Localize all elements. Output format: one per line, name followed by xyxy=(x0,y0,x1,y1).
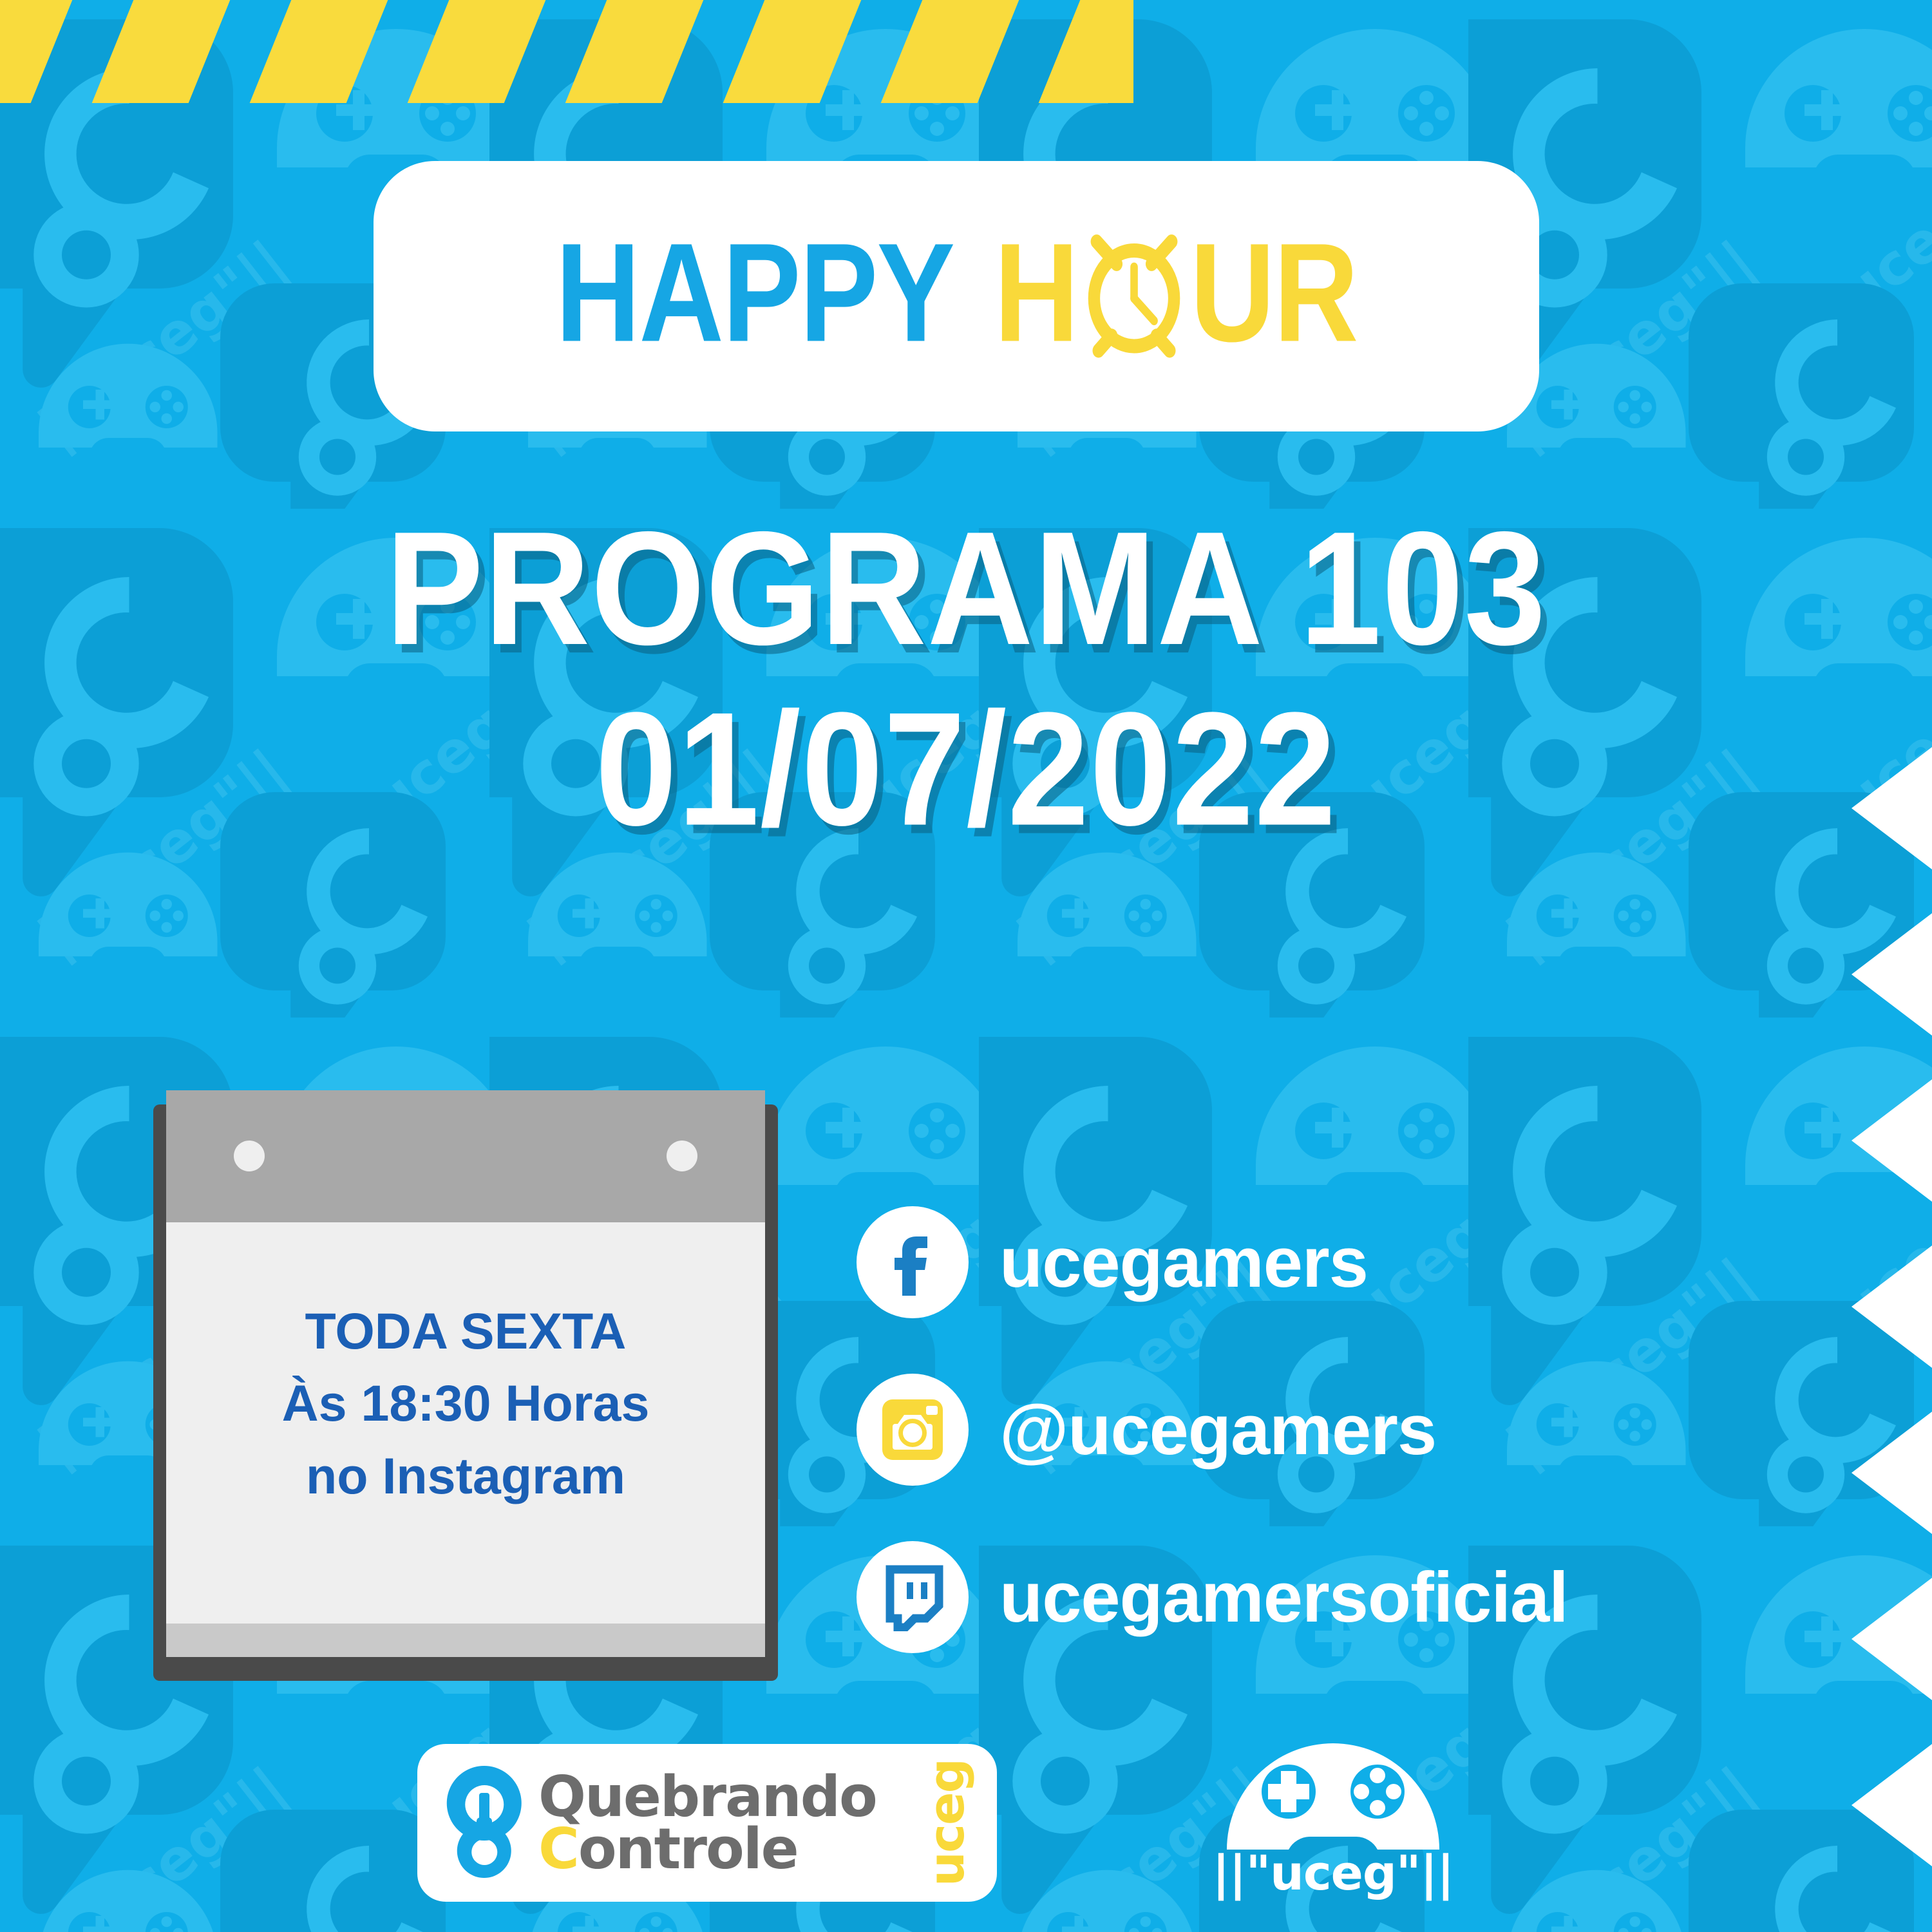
hazard-stripes-decoration xyxy=(0,0,1133,103)
page-title: PROGRAMA 103 01/07/2022 xyxy=(0,498,1932,860)
calendar-footer-bar xyxy=(166,1624,765,1657)
alarm-clock-icon xyxy=(1078,218,1191,367)
calendar-hole-left-icon xyxy=(234,1141,265,1171)
logo-controle-rest: ontrole xyxy=(578,1816,798,1882)
quebrando-controle-wordmark: Quebrando Controle xyxy=(538,1771,909,1874)
schedule-calendar-card: TODA SEXTA Às 18:30 Horas no Instagram xyxy=(153,1104,778,1681)
calendar-header-bar xyxy=(166,1090,765,1222)
title-line-date: 01/07/2022 xyxy=(0,679,1932,860)
happy-hour-logo: HAPPY H UR xyxy=(549,228,1363,357)
twitch-handle[interactable]: ucegamersoficial xyxy=(999,1557,1568,1638)
twitch-badge[interactable] xyxy=(857,1541,969,1653)
logo-word-happy: HAPPY xyxy=(556,222,954,363)
logo-hour-prefix: H xyxy=(994,222,1078,363)
social-row-twitch[interactable]: ucegamersoficial xyxy=(857,1513,1823,1681)
chain-link-icon xyxy=(439,1762,529,1884)
schedule-platform: no Instagram xyxy=(306,1440,625,1512)
uceg-wordmark: ||"uceg"|| xyxy=(1213,1846,1454,1901)
poster-canvas: ||"uceg"|| xyxy=(0,0,1932,1932)
happy-hour-logo-card: HAPPY H UR xyxy=(374,161,1539,431)
twitch-icon xyxy=(878,1563,947,1631)
calendar-hole-right-icon xyxy=(667,1141,697,1171)
logo-hour-suffix: UR xyxy=(1190,222,1358,363)
facebook-icon xyxy=(879,1229,946,1296)
quebrando-controle-logo[interactable]: Quebrando Controle uceg xyxy=(417,1744,997,1902)
schedule-day: TODA SEXTA xyxy=(305,1295,627,1367)
social-row-facebook[interactable]: ucegamers xyxy=(857,1179,1823,1346)
facebook-badge[interactable] xyxy=(857,1206,969,1318)
calendar-inner: TODA SEXTA Às 18:30 Horas no Instagram xyxy=(166,1090,765,1657)
logo-word-quebrando: Quebrando xyxy=(538,1771,909,1823)
social-links-list: ucegamers @ucegamers xyxy=(857,1179,1823,1681)
logo-word-controle: Controle xyxy=(538,1823,909,1875)
title-line-program: PROGRAMA 103 xyxy=(0,498,1932,679)
social-row-instagram[interactable]: @ucegamers xyxy=(857,1346,1823,1513)
logo-vertical-uceg-tag: uceg xyxy=(918,1759,975,1886)
logo-word-hour: H UR xyxy=(994,218,1358,367)
calendar-body: TODA SEXTA Às 18:30 Horas no Instagram xyxy=(166,1222,765,1624)
right-edge-zigzag-decoration xyxy=(1848,747,1932,1842)
gamepad-icon xyxy=(1227,1739,1439,1850)
logo-controle-accent-letter: C xyxy=(538,1816,578,1882)
facebook-handle[interactable]: ucegamers xyxy=(999,1222,1368,1303)
instagram-handle[interactable]: @ucegamers xyxy=(999,1389,1436,1471)
instagram-icon xyxy=(878,1396,947,1464)
schedule-time: Às 18:30 Horas xyxy=(282,1367,650,1439)
uceg-gamepad-logo[interactable]: ||"uceg"|| xyxy=(1217,1739,1449,1926)
instagram-badge[interactable] xyxy=(857,1374,969,1486)
